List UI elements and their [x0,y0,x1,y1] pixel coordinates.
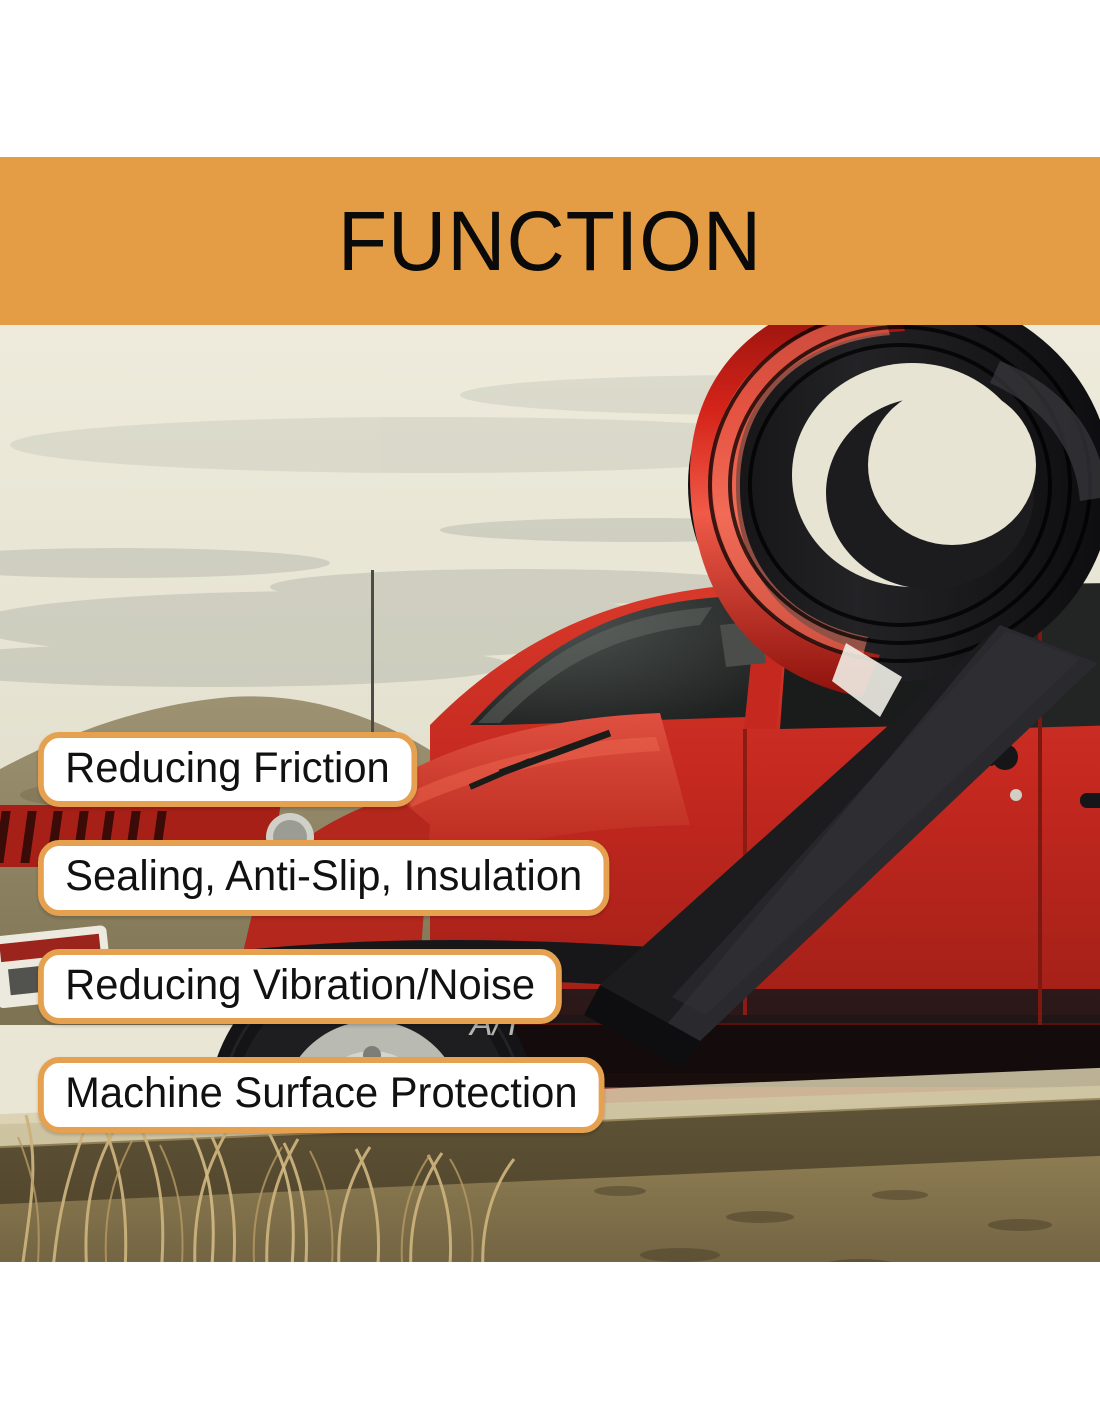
callout-reducing-vibration-noise: Reducing Vibration/Noise [38,949,562,1024]
function-header-band: FUNCTION [0,157,1100,325]
page-title: FUNCTION [338,199,762,283]
callout-sealing-anti-slip-insulation: Sealing, Anti-Slip, Insulation [38,840,609,915]
product-infographic-page: FUNCTION [0,0,1100,1422]
function-callout-list: Reducing Friction Sealing, Anti-Slip, In… [38,732,678,1133]
callout-machine-surface-protection: Machine Surface Protection [38,1057,605,1132]
callout-reducing-friction: Reducing Friction [38,732,417,807]
